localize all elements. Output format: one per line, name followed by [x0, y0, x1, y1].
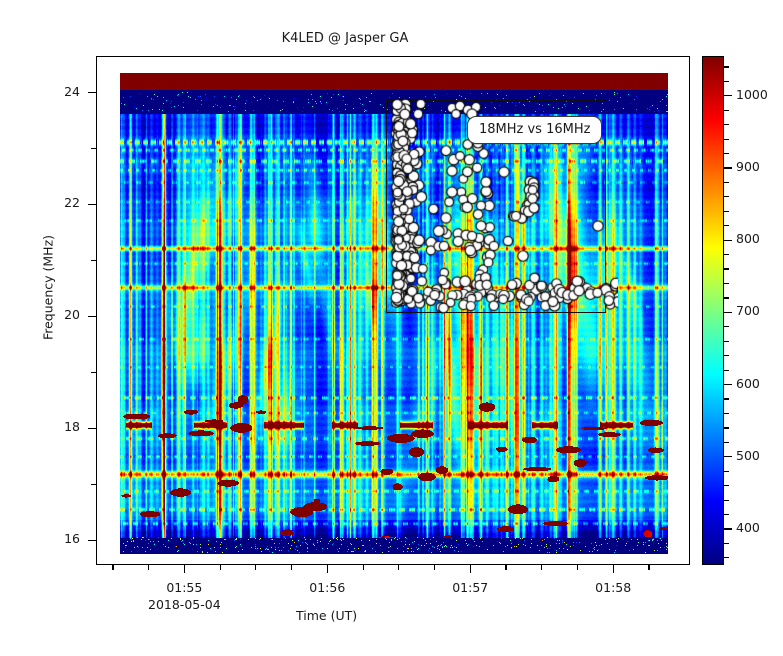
- colorbar-gradient: [703, 57, 723, 564]
- y-tick-minor: [91, 372, 96, 373]
- x-axis-title: Time (UT): [296, 608, 357, 623]
- y-tick-major: [88, 540, 96, 541]
- colorbar-tick-minor: [724, 268, 729, 269]
- colorbar-tick-major: [724, 95, 732, 96]
- colorbar-tick-minor: [724, 427, 729, 428]
- x-tick-minor: [291, 565, 292, 570]
- colorbar-tick-label: 900: [736, 159, 760, 174]
- colorbar: [702, 56, 724, 565]
- x-tick-minor: [434, 565, 435, 570]
- colorbar-tick-minor: [724, 139, 729, 140]
- x-tick-minor: [255, 565, 256, 570]
- y-axis-title: Frequency (MHz): [41, 208, 56, 368]
- colorbar-tick-minor: [724, 283, 729, 284]
- y-tick-major: [88, 204, 96, 205]
- x-tick-label: 01:55: [149, 580, 219, 595]
- colorbar-tick-minor: [724, 442, 729, 443]
- colorbar-tick-minor: [724, 196, 729, 197]
- colorbar-tick-label: 500: [736, 448, 760, 463]
- colorbar-tick-minor: [724, 485, 729, 486]
- colorbar-tick-minor: [724, 182, 729, 183]
- x-tick-label: 01:58: [578, 580, 648, 595]
- x-tick-minor: [648, 565, 649, 570]
- colorbar-tick-major: [724, 456, 732, 457]
- y-tick-label: 22: [34, 195, 80, 210]
- colorbar-tick-minor: [724, 66, 729, 67]
- colorbar-tick-minor: [724, 81, 729, 82]
- x-tick-minor: [363, 565, 364, 570]
- x-tick-major: [470, 565, 471, 573]
- colorbar-tick-minor: [724, 514, 729, 515]
- x-tick-label: 01:56: [292, 580, 362, 595]
- colorbar-tick-minor: [724, 225, 729, 226]
- colorbar-tick-label: 400: [736, 520, 760, 535]
- x-tick-label: 01:57: [435, 580, 505, 595]
- annotation-label: 18MHz vs 16MHz: [467, 116, 602, 144]
- x-axis-date: 2018-05-04: [129, 597, 239, 612]
- colorbar-tick-major: [724, 312, 732, 313]
- colorbar-tick-minor: [724, 370, 729, 371]
- colorbar-tick-major: [724, 528, 732, 529]
- x-tick-minor: [577, 565, 578, 570]
- colorbar-tick-minor: [724, 254, 729, 255]
- x-tick-minor: [220, 565, 221, 570]
- x-tick-major: [184, 565, 185, 573]
- x-tick-minor: [398, 565, 399, 570]
- colorbar-tick-major: [724, 384, 732, 385]
- colorbar-tick-minor: [724, 211, 729, 212]
- page-title: K4LED @ Jasper GA: [0, 31, 690, 46]
- colorbar-tick-minor: [724, 413, 729, 414]
- colorbar-tick-minor: [724, 341, 729, 342]
- colorbar-tick-label: 1000: [736, 87, 768, 102]
- y-tick-minor: [91, 260, 96, 261]
- colorbar-tick-minor: [724, 398, 729, 399]
- colorbar-tick-minor: [724, 543, 729, 544]
- y-tick-minor: [91, 148, 96, 149]
- x-tick-major: [327, 565, 328, 573]
- y-tick-major: [88, 428, 96, 429]
- x-tick-minor: [112, 565, 113, 570]
- colorbar-tick-label: 700: [736, 303, 760, 318]
- colorbar-tick-label: 600: [736, 376, 760, 391]
- colorbar-tick-major: [724, 240, 732, 241]
- y-tick-label: 18: [34, 419, 80, 434]
- x-tick-major: [613, 565, 614, 573]
- x-tick-minor: [505, 565, 506, 570]
- y-tick-major: [88, 92, 96, 93]
- colorbar-tick-minor: [724, 326, 729, 327]
- colorbar-tick-minor: [724, 297, 729, 298]
- y-tick-major: [88, 316, 96, 317]
- colorbar-tick-minor: [724, 355, 729, 356]
- y-tick-label: 16: [34, 531, 80, 546]
- y-tick-label: 24: [34, 84, 80, 99]
- colorbar-tick-minor: [724, 124, 729, 125]
- colorbar-tick-minor: [724, 471, 729, 472]
- y-tick-label: 20: [34, 307, 80, 322]
- y-tick-minor: [91, 484, 96, 485]
- colorbar-tick-label: 800: [736, 231, 760, 246]
- spectrogram-figure: K4LED @ Jasper GA 18MHz vs 16MHz Frequen…: [0, 0, 783, 656]
- colorbar-tick-major: [724, 167, 732, 168]
- colorbar-tick-minor: [724, 500, 729, 501]
- colorbar-tick-minor: [724, 110, 729, 111]
- x-tick-minor: [541, 565, 542, 570]
- x-tick-minor: [148, 565, 149, 570]
- colorbar-tick-minor: [724, 557, 729, 558]
- colorbar-tick-minor: [724, 153, 729, 154]
